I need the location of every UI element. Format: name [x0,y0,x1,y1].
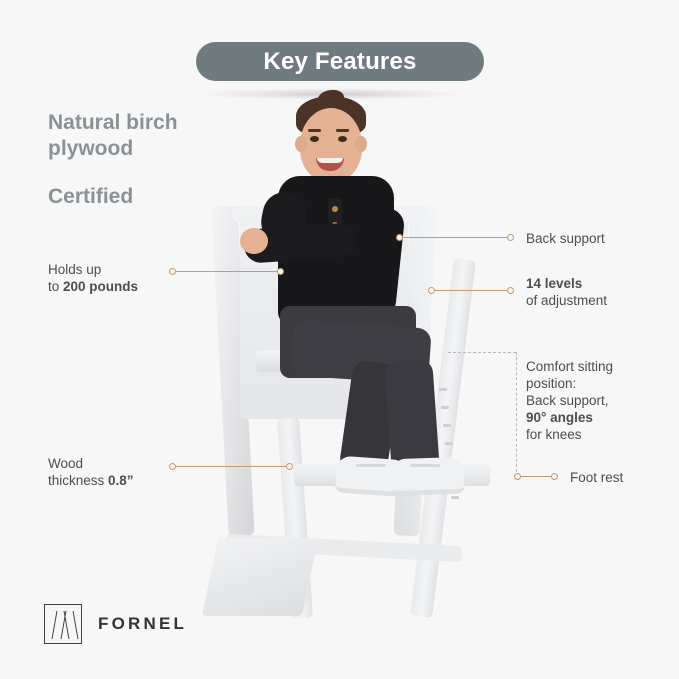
callout-holds-up: Holds up to 200 pounds [48,261,183,295]
anchor-dot-levels [428,287,435,294]
child-brow-right [336,129,349,132]
brand-logo: FORNEL [44,604,187,644]
callout-comfort-line2: position: [526,375,676,392]
callout-back-support: Back support [526,230,666,247]
callout-levels-of-adjustment: 14 levels of adjustment [526,275,666,309]
leader-line-holds-up [176,271,280,272]
anchor-dot-foot-rest [514,473,521,480]
callout-comfort-angles: 90° angles [526,409,676,426]
callout-holds-up-line1: Holds up [48,261,183,278]
anchor-dot-holds-up [277,268,284,275]
leader-dot-levels [507,287,514,294]
callout-comfort-line5: for knees [526,426,676,443]
child-shoe-right [391,457,464,496]
child-eye-right [338,136,347,142]
bracket-line-comfort-vertical [516,352,517,472]
leader-dot-back-support [507,234,514,241]
bracket-line-comfort-top [448,352,516,353]
leader-line-foot-rest [518,476,552,477]
leader-line-levels [432,290,508,291]
leader-line-wood-thickness [176,466,288,467]
callout-holds-up-prefix: to [48,279,63,294]
callout-foot-rest: Foot rest [570,469,679,486]
callout-wood-thickness: Wood thickness 0.8” [48,455,188,489]
leader-dot-foot-rest [551,473,558,480]
callout-wood-thickness-value: 0.8” [108,473,134,488]
leader-line-back-support [400,237,508,238]
child-ear-right [355,136,367,152]
anchor-dot-wood-thickness [286,463,293,470]
infographic-page: Key Features Natural birch plywood Certi… [0,0,679,679]
callout-comfort-line1: Comfort sitting [526,358,676,375]
anchor-dot-back-support [396,234,403,241]
child-shoe-lace-left [356,464,386,467]
page-title-pill: Key Features [196,42,484,81]
brand-name: FORNEL [98,614,187,634]
fornel-monogram-icon [44,604,82,644]
callout-holds-up-value: 200 pounds [63,279,138,294]
child-hand-left [240,228,268,254]
callout-comfort-line3: Back support, [526,392,676,409]
callout-wood-thickness-line2: thickness 0.8” [48,472,188,489]
child-teeth [317,158,343,163]
callout-levels-sub: of adjustment [526,292,666,309]
child-figure [196,88,496,600]
child-shin-right [384,358,440,473]
product-photo-highchair-with-child [196,88,496,600]
callout-comfort-sitting-position: Comfort sitting position: Back support, … [526,358,676,443]
callout-wood-thickness-prefix: thickness [48,473,108,488]
child-ear-left [295,136,307,152]
callout-holds-up-line2: to 200 pounds [48,278,183,295]
callout-wood-thickness-line1: Wood [48,455,188,472]
callout-levels-bold: 14 levels [526,275,666,292]
child-shirt-button [332,206,338,212]
child-brow-left [308,129,321,132]
child-shoe-lace-right [410,464,440,467]
child-eye-left [310,136,319,142]
page-title: Key Features [263,48,416,76]
